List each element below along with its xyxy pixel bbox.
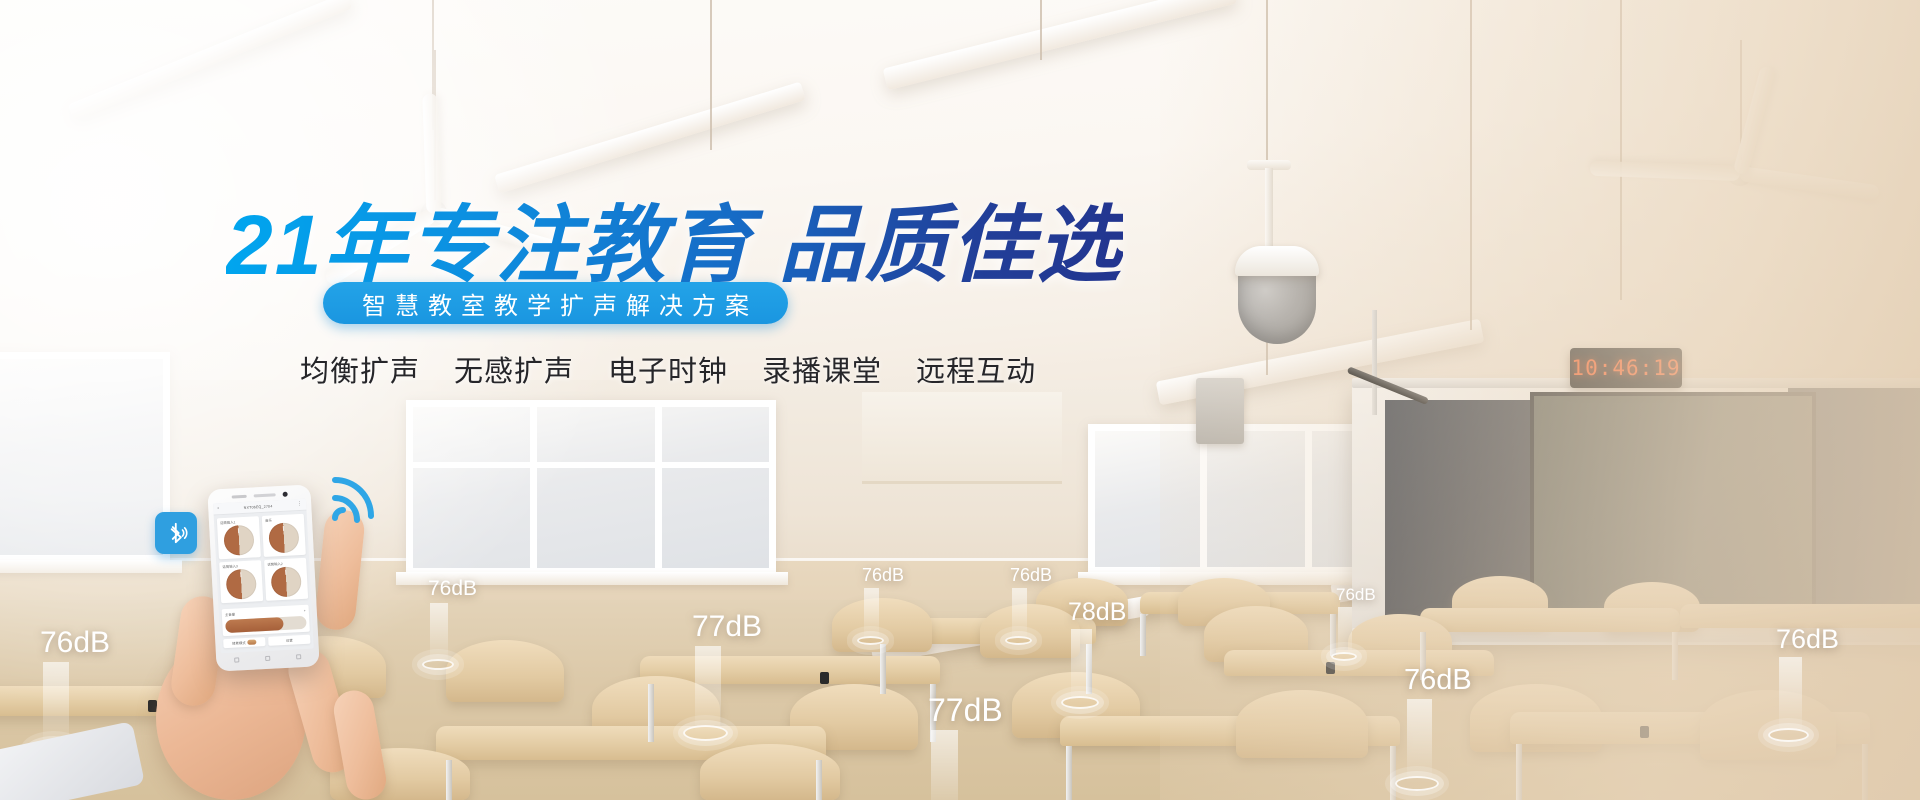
db-ripple-marker — [857, 636, 884, 645]
db-ripple-marker — [1331, 652, 1357, 661]
more-vertical-icon[interactable]: ⋮ — [297, 502, 302, 507]
sensor-strip — [253, 493, 275, 497]
desk-leg — [880, 644, 886, 694]
channel-label: 音乐 — [265, 516, 301, 523]
db-label: 76dB — [1336, 586, 1376, 603]
light-hanger-3 — [1040, 0, 1042, 60]
channel-label: 话筒输入3 — [222, 562, 258, 569]
db-label: 78dB — [1068, 600, 1126, 625]
channel-card-2[interactable]: 话筒输入3 — [219, 560, 263, 603]
bluetooth-icon — [155, 512, 197, 554]
subtitle-pill: 智慧教室教学扩声解决方案 — [323, 282, 788, 324]
wifi-signal-icon — [325, 470, 383, 528]
db-beam — [1012, 588, 1027, 640]
warm-light-overlay — [1160, 0, 1920, 800]
channel-knob[interactable] — [226, 568, 258, 600]
db-label: 76dB — [1776, 626, 1839, 653]
channel-knob[interactable] — [268, 522, 300, 554]
db-ripple-marker — [1005, 636, 1032, 645]
phone-screen[interactable]: ‹ NXT06EQ_2704 ⋮ 话筒输入1音乐话筒输入3话筒输入2 主音量 +… — [213, 499, 314, 654]
db-ripple-marker — [683, 725, 728, 741]
feature-item-4: 远程互动 — [916, 348, 1036, 390]
db-beam — [1779, 657, 1802, 735]
desk-hardware — [820, 672, 829, 684]
db-beam — [864, 588, 879, 640]
db-beam — [931, 730, 958, 800]
volume-slider-fill — [225, 617, 284, 633]
front-camera-icon — [282, 492, 287, 497]
phone-button-0[interactable]: 情景模式 — [223, 637, 265, 648]
db-beam — [695, 646, 721, 733]
android-navbar — [221, 650, 314, 666]
phone-button-label: 情景模式 — [232, 640, 246, 646]
earpiece-speaker — [231, 495, 246, 499]
desk-leg — [648, 684, 654, 742]
phone-button-1[interactable]: 设置 — [268, 635, 310, 646]
nav-recent-icon[interactable] — [296, 654, 301, 659]
smartphone[interactable]: ‹ NXT06EQ_2704 ⋮ 话筒输入1音乐话筒输入3话筒输入2 主音量 +… — [207, 484, 319, 671]
phone-button-row: 情景模式设置 — [220, 634, 314, 651]
db-label: 76dB — [40, 628, 110, 658]
nav-home-icon[interactable] — [265, 656, 270, 661]
channel-card-1[interactable]: 音乐 — [262, 514, 306, 557]
feature-item-3: 录播课堂 — [762, 348, 882, 390]
channel-knob[interactable] — [223, 524, 255, 556]
db-beam — [430, 603, 448, 664]
db-label: 76dB — [1404, 666, 1472, 695]
mode-indicator — [248, 639, 257, 644]
db-ripple-marker — [1061, 696, 1099, 709]
feature-item-2: 电子时钟 — [608, 348, 728, 390]
db-label: 76dB — [862, 566, 904, 584]
channel-label: 话筒输入1 — [220, 518, 256, 525]
feature-list: 均衡扩声无感扩声电子时钟录播课堂远程互动 — [300, 348, 1036, 390]
channel-grid: 话筒输入1音乐话筒输入3话筒输入2 — [214, 511, 312, 607]
classroom-banner: 10:46:19 — [0, 0, 1920, 800]
master-volume-card[interactable]: 主音量 + — [222, 605, 310, 637]
db-label: 76dB — [1010, 566, 1052, 584]
channel-card-0[interactable]: 话筒输入1 — [217, 516, 261, 559]
desk-leg — [1140, 614, 1146, 656]
desk-leg — [816, 760, 822, 800]
desk-leg — [1066, 746, 1072, 800]
window-mullion-2 — [655, 400, 662, 575]
volume-slider[interactable] — [225, 616, 307, 633]
page-title: 21年专注教育 品质佳选 — [226, 178, 1123, 299]
channel-knob[interactable] — [270, 566, 302, 598]
desk-leg — [446, 760, 452, 800]
phone-button-label: 设置 — [286, 638, 293, 643]
channel-card-3[interactable]: 话筒输入2 — [264, 558, 308, 601]
db-beam — [1338, 607, 1352, 656]
plus-icon[interactable]: + — [304, 608, 306, 612]
chair — [980, 604, 1080, 658]
app-title: NXT06EQ_2704 — [244, 504, 273, 510]
window-blind — [862, 392, 1062, 484]
db-ripple-marker — [1395, 776, 1439, 791]
db-ripple-marker — [422, 659, 454, 670]
db-beam — [1407, 699, 1432, 783]
light-hanger-2 — [710, 0, 712, 150]
db-ripple-marker — [1768, 728, 1809, 742]
feature-item-1: 无感扩声 — [454, 348, 574, 390]
feature-item-0: 均衡扩声 — [300, 348, 420, 390]
master-volume-label: 主音量 — [225, 612, 235, 618]
db-label: 77dB — [928, 694, 1003, 726]
nav-back-icon[interactable] — [234, 657, 239, 662]
db-label: 77dB — [692, 612, 762, 642]
channel-label: 话筒输入2 — [267, 560, 303, 567]
chevron-left-icon[interactable]: ‹ — [217, 506, 219, 511]
db-beam — [1071, 629, 1092, 702]
db-label: 76dB — [428, 578, 477, 599]
subtitle-text: 智慧教室教学扩声解决方案 — [353, 286, 758, 321]
